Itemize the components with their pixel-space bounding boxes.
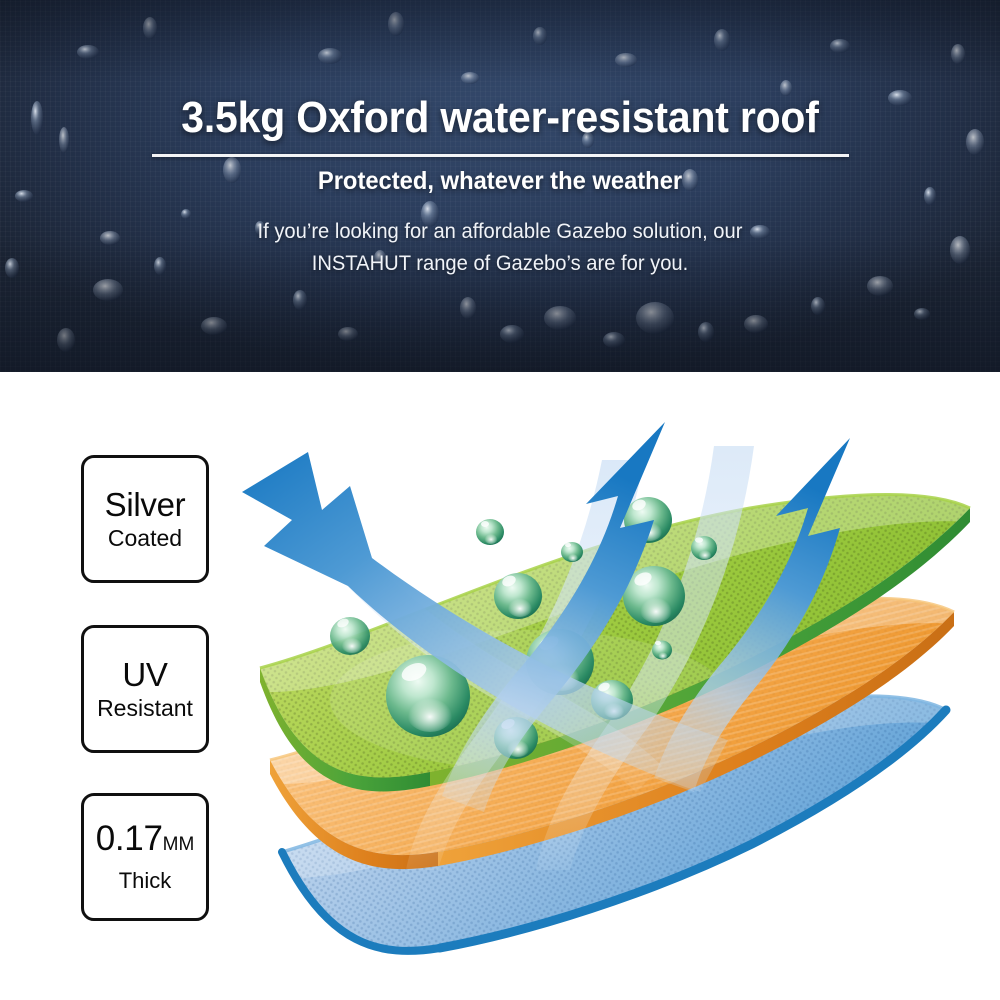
hero-divider-rule [152,154,849,157]
water-droplet [652,641,672,660]
feature-badge-uv-resistant: UV Resistant [81,625,209,753]
feature-badge-uv-resistant-value: UV [122,656,167,693]
hero-description: If you’re looking for an affordable Gaze… [202,216,797,280]
feature-badge-uv-resistant-main: UV [122,657,167,693]
water-droplet [691,536,717,560]
feature-badge-silver-coated-sub: Coated [108,525,182,552]
feature-badge-thickness-unit: MM [163,834,195,855]
hero-title: 3.5kg Oxford water-resistant roof [35,93,965,143]
fabric-layers-illustration [230,400,1000,1000]
fabric-layers-svg [230,400,1000,1000]
feature-badge-silver-coated-main: Silver [105,487,186,523]
water-droplet [494,573,542,619]
feature-badge-thickness: 0.17MM Thick [81,793,209,921]
feature-badge-silver-coated: Silver Coated [81,455,209,583]
hero-description-line-2: INSTAHUT range of Gazebo’s are for you. [202,248,797,280]
feature-badge-uv-resistant-sub: Resistant [97,695,193,722]
water-droplet [330,617,370,655]
hero-subtitle: Protected, whatever the weather [25,167,975,196]
hero-banner: 3.5kg Oxford water-resistant roof Protec… [0,0,1000,372]
water-droplet [561,542,583,562]
hero-description-line-1: If you’re looking for an affordable Gaze… [202,216,797,248]
feature-badge-thickness-value: 0.17 [96,819,163,858]
feature-badge-silver-coated-value: Silver [105,486,186,523]
feature-badge-thickness-main: 0.17MM [96,821,195,863]
product-feature-panel: 3.5kg Oxford water-resistant roof Protec… [0,0,1000,1000]
feature-badge-thickness-sub: Thick [119,867,172,894]
water-droplet [476,519,504,545]
